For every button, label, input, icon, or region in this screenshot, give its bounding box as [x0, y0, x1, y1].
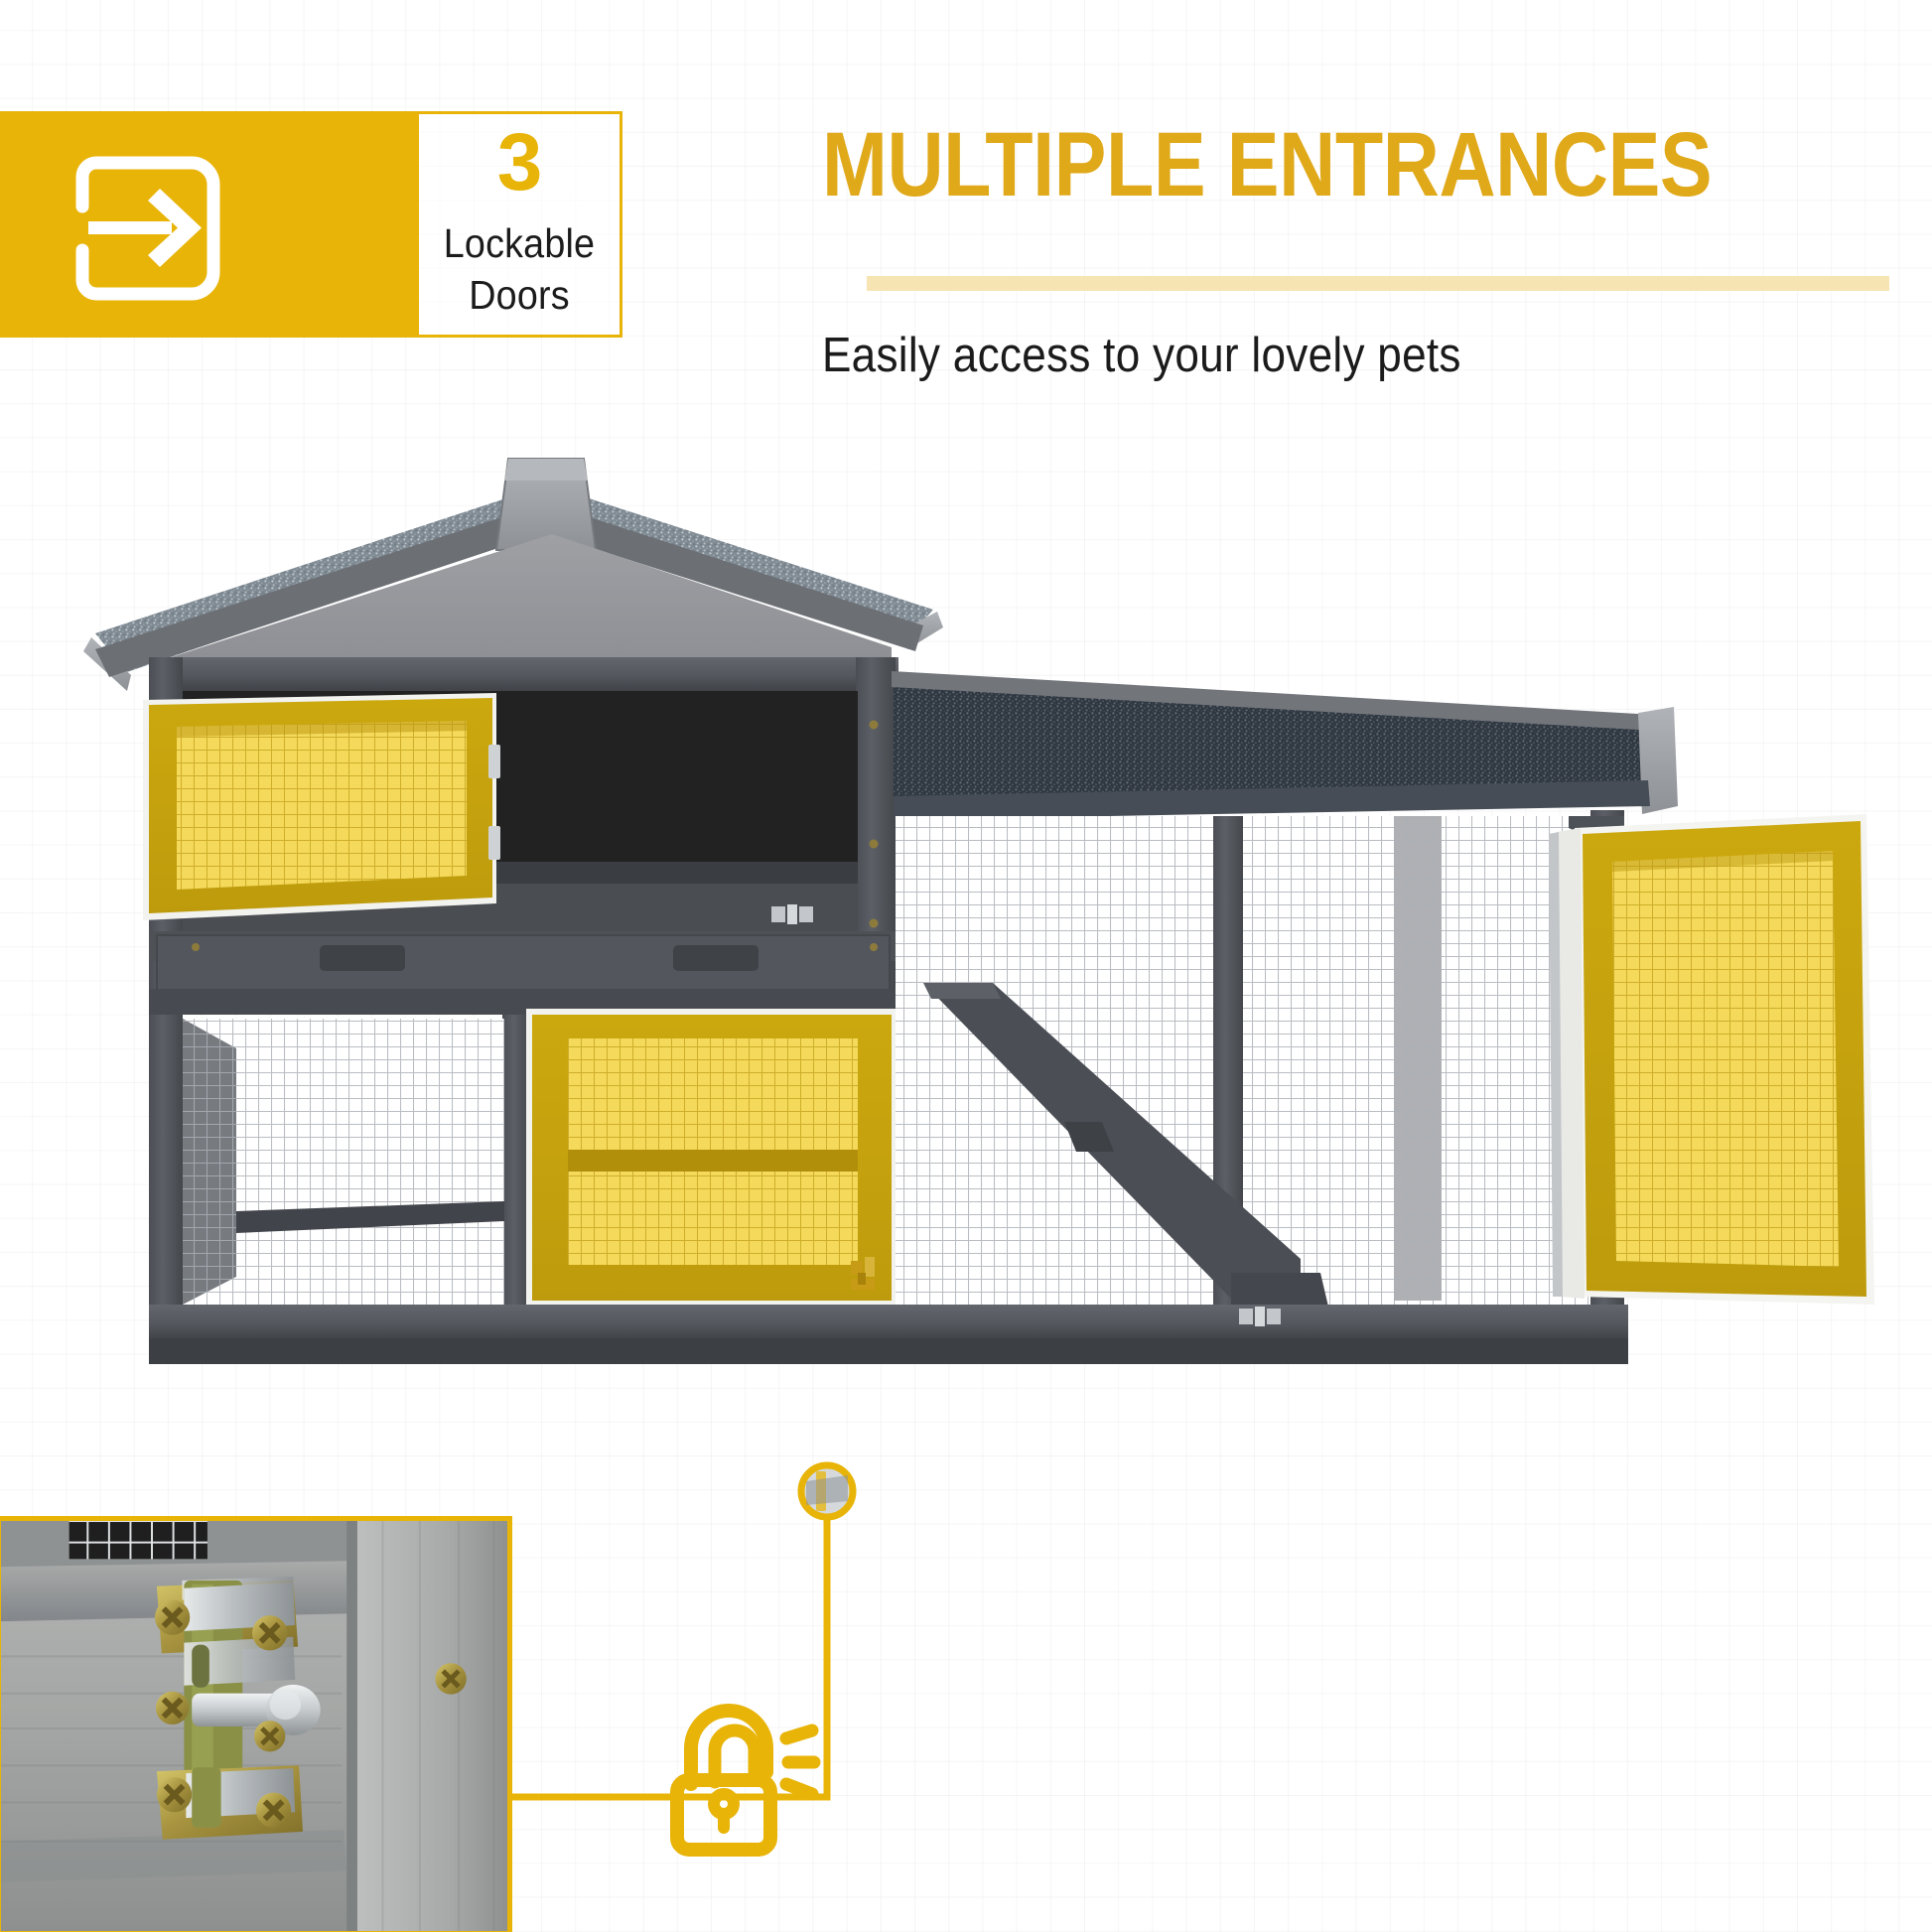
- screw: [435, 1663, 466, 1694]
- page-subtitle: Easily access to your lovely pets: [822, 328, 1796, 383]
- lockable-doors-caption: 3 Lockable Doors: [419, 111, 622, 338]
- barrel-bolt-latch: [155, 1577, 321, 1840]
- screw: [252, 1615, 287, 1650]
- tray-hinge-hardware: [771, 904, 813, 924]
- upper-left-yellow-door: [143, 693, 500, 920]
- screw: [155, 1599, 190, 1634]
- page-title: MULTIPLE ENTRANCES: [822, 117, 1752, 213]
- barrel-bolt-latch-closeup: [0, 1516, 512, 1932]
- screw: [156, 1692, 189, 1725]
- hutch-illustration: [83, 459, 1874, 1364]
- doors-label: Lockable Doors: [427, 217, 612, 322]
- title-underline-rule: [867, 276, 1889, 291]
- lockable-doors-badge: [0, 111, 419, 338]
- product-photo-rabbit-hutch: [0, 427, 1932, 1539]
- doors-label-line1: Lockable: [444, 220, 595, 266]
- infographic-canvas: 3 Lockable Doors MULTIPLE ENTRANCES Easi…: [0, 0, 1932, 1932]
- right-open-yellow-door: [1549, 814, 1874, 1305]
- screw: [256, 1793, 291, 1828]
- unlocked-padlock-icon: [663, 1693, 834, 1873]
- screw: [157, 1777, 192, 1812]
- latch-callout-marker: [801, 1465, 853, 1517]
- run-latch-hardware: [1239, 1307, 1281, 1326]
- doors-count: 3: [419, 122, 620, 204]
- lower-yellow-door: [526, 1009, 897, 1307]
- door-exit-arrow-icon: [74, 155, 249, 302]
- door-latch-hardware: [851, 1257, 875, 1290]
- doors-label-line2: Doors: [469, 272, 570, 318]
- screw: [254, 1721, 285, 1751]
